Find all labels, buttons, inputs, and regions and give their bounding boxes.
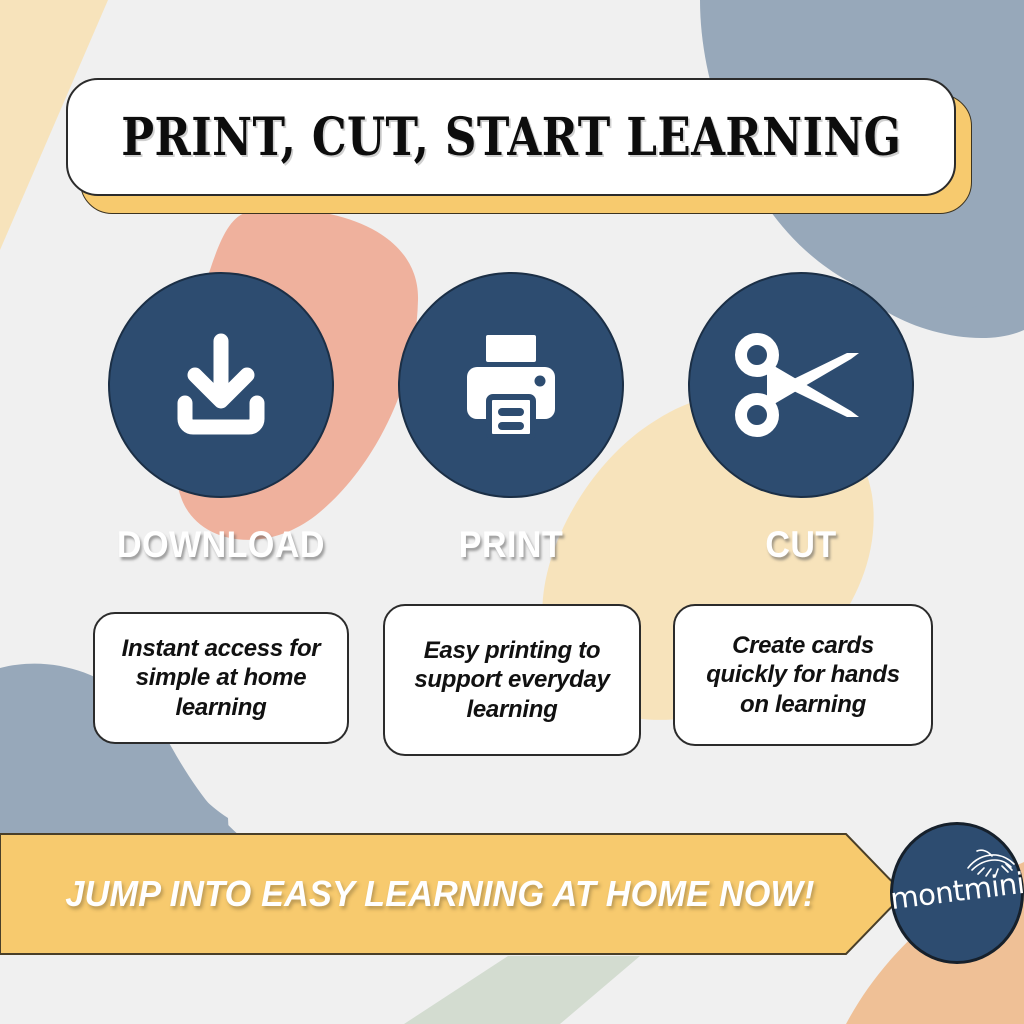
step-print-label: PRINT [407, 524, 615, 566]
cta-ribbon[interactable]: JUMP INTO EASY LEARNING AT HOME NOW! [0, 833, 906, 955]
description-text: Instant access for simple at home learni… [109, 634, 333, 722]
poster-canvas: PRINT, CUT, START LEARNING DOWNLOAD [0, 0, 1024, 1024]
step-download-label: DOWNLOAD [117, 524, 325, 566]
step-download[interactable] [108, 272, 334, 498]
step-download-circle [108, 272, 334, 498]
scissors-icon [733, 319, 869, 451]
step-cut[interactable] [688, 272, 914, 498]
description-text: Easy printing to support everyday learni… [399, 636, 625, 724]
description-card-cut: Create cards quickly for hands on learni… [673, 604, 933, 746]
step-print[interactable] [398, 272, 624, 498]
title-card: PRINT, CUT, START LEARNING [66, 78, 956, 196]
cta-text: JUMP INTO EASY LEARNING AT HOME NOW! [22, 833, 858, 955]
step-print-circle [398, 272, 624, 498]
brand-logo[interactable]: montmini [890, 822, 1024, 964]
title-banner: PRINT, CUT, START LEARNING [66, 78, 956, 198]
description-card-download: Instant access for simple at home learni… [93, 612, 349, 744]
download-icon [155, 319, 287, 451]
page-title: PRINT, CUT, START LEARNING [121, 107, 901, 168]
description-text: Create cards quickly for hands on learni… [689, 631, 917, 719]
step-cut-label: CUT [697, 524, 905, 566]
printer-icon [445, 319, 577, 451]
description-card-print: Easy printing to support everyday learni… [383, 604, 641, 756]
step-cut-circle [688, 272, 914, 498]
